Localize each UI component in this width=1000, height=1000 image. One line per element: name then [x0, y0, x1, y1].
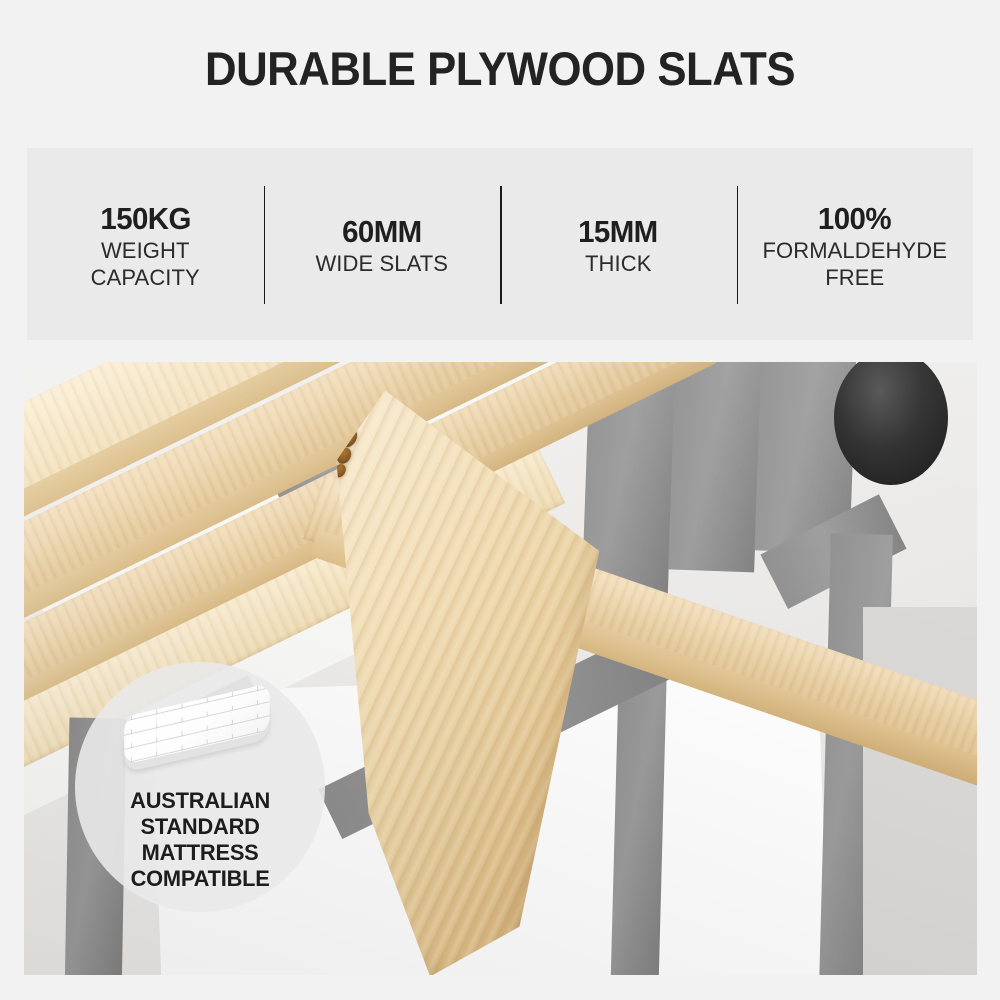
feature-value: 100% — [818, 201, 891, 236]
feature-label: WIDE SLATS — [315, 251, 448, 278]
badge-label-line: COMPATIBLE — [130, 866, 270, 892]
feature-label-line: WEIGHT — [91, 238, 200, 265]
feature-item-formaldehyde-free: 100% FORMALDEHYDE FREE — [737, 148, 974, 340]
product-photo: AUSTRALIAN STANDARD MATTRESS COMPATIBLE — [24, 362, 977, 975]
badge-label: AUSTRALIAN STANDARD MATTRESS COMPATIBLE — [128, 788, 272, 892]
feature-label-line: CAPACITY — [91, 265, 200, 292]
badge-label-line: MATTRESS — [130, 840, 270, 866]
metal-headboard-panel — [668, 362, 761, 572]
feature-bar: 150KG WEIGHT CAPACITY 60MM WIDE SLATS 15… — [27, 148, 973, 340]
page-title-text: DURABLE PLYWOOD SLATS — [35, 44, 965, 93]
mattress-icon — [116, 686, 284, 762]
page-title: DURABLE PLYWOOD SLATS — [0, 44, 1000, 93]
badge-label-line: STANDARD — [130, 814, 270, 840]
feature-label-line: THICK — [585, 251, 652, 278]
feature-value: 60MM — [342, 214, 422, 249]
feature-label-line: WIDE SLATS — [315, 251, 448, 278]
mattress-compatible-badge: AUSTRALIAN STANDARD MATTRESS COMPATIBLE — [75, 662, 325, 912]
feature-label: FORMALDEHYDE FREE — [762, 238, 947, 292]
feature-label-line: FREE — [762, 265, 947, 292]
feature-value: 15MM — [578, 214, 658, 249]
feature-label-line: FORMALDEHYDE — [762, 238, 947, 265]
feature-item-weight-capacity: 150KG WEIGHT CAPACITY — [27, 148, 264, 340]
metal-side-panel — [863, 607, 977, 975]
feature-item-thickness: 15MM THICK — [500, 148, 737, 340]
feature-label: THICK — [585, 251, 652, 278]
feature-item-wide-slats: 60MM WIDE SLATS — [264, 148, 501, 340]
badge-label-line: AUSTRALIAN — [130, 788, 270, 814]
feature-label: WEIGHT CAPACITY — [91, 238, 200, 292]
feature-value: 150KG — [100, 201, 190, 236]
